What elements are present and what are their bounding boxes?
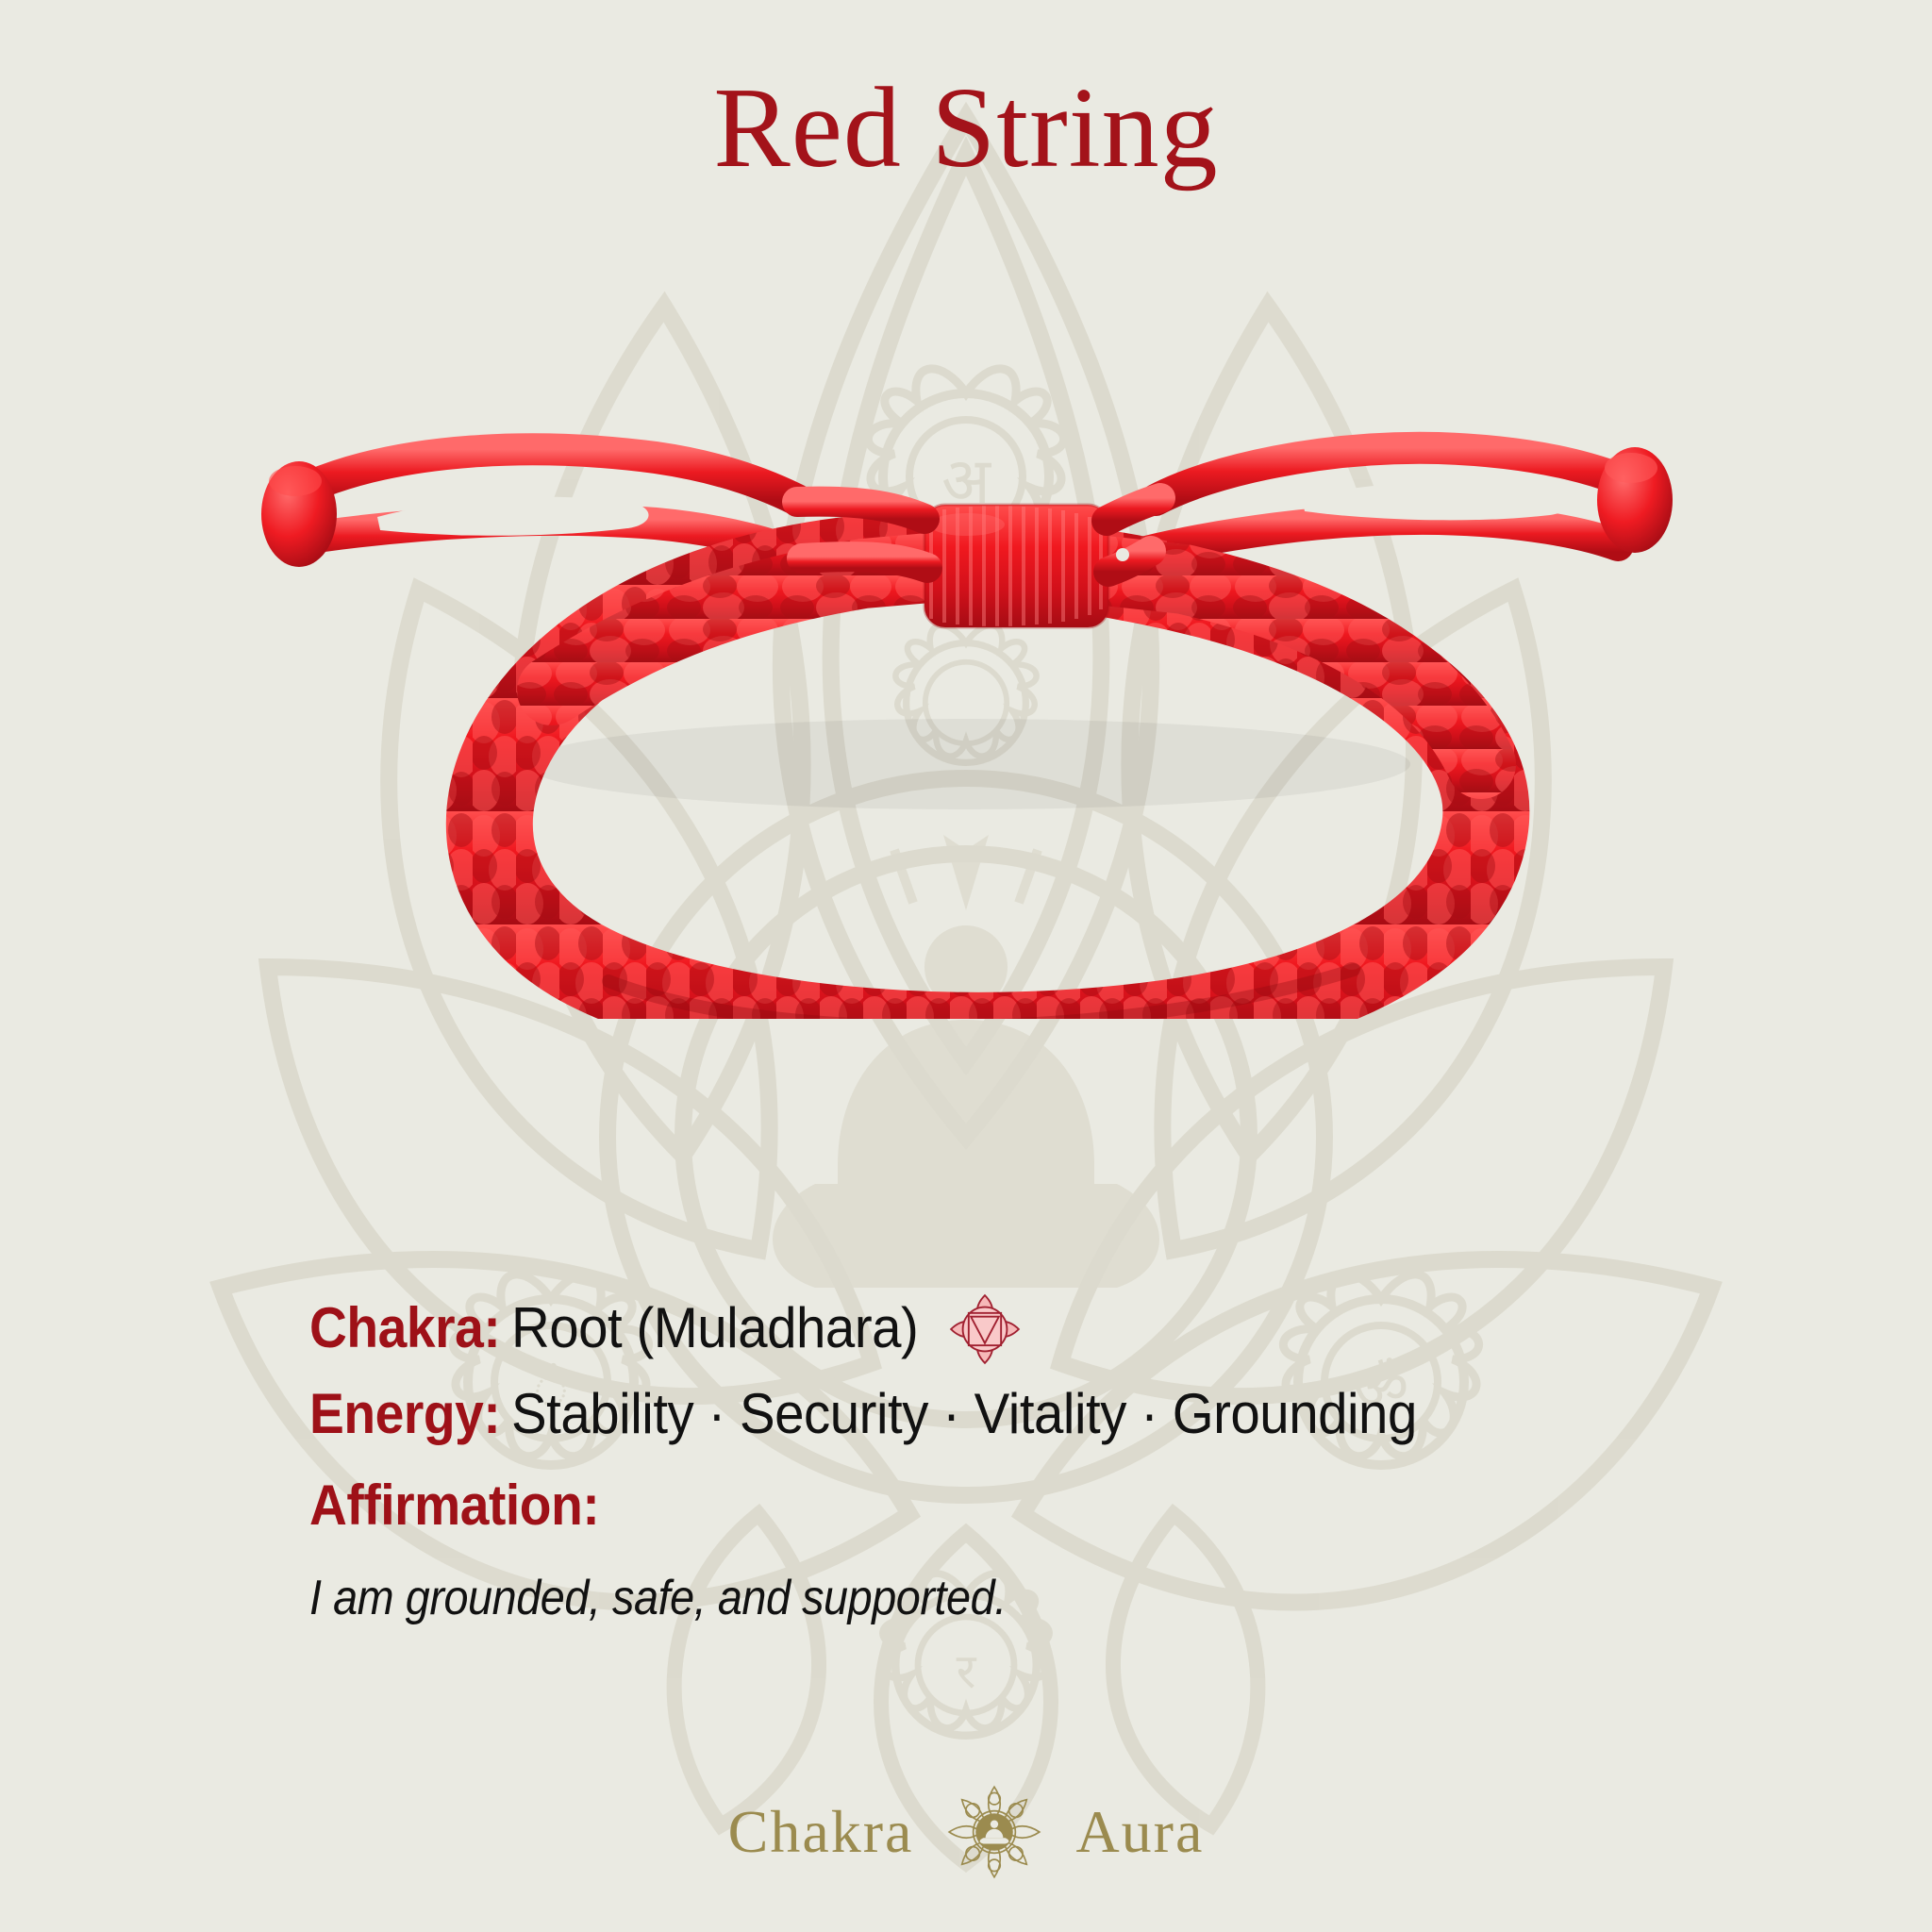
chakra-row: Chakra: Root (Muladhara) bbox=[309, 1291, 1781, 1364]
page-title: Red String bbox=[0, 68, 1932, 189]
brand-name-first: Chakra bbox=[728, 1797, 914, 1867]
energy-row: Energy: Stability · Security · Vitality … bbox=[309, 1381, 1781, 1446]
poster-canvas: अ ं ॐ र Red String bbox=[0, 0, 1932, 1932]
cord-end-bead-left bbox=[261, 461, 337, 567]
sliding-knot bbox=[924, 505, 1108, 627]
brand-name-second: Aura bbox=[1075, 1797, 1204, 1867]
energy-label: Energy: bbox=[309, 1381, 500, 1446]
muladhara-chakra-icon bbox=[948, 1292, 1022, 1366]
cord-end-bead-right bbox=[1597, 447, 1673, 553]
svg-text:र: र bbox=[957, 1646, 977, 1699]
chakra-value: Root (Muladhara) bbox=[511, 1295, 918, 1360]
red-string-braided-bracelet bbox=[212, 358, 1722, 1019]
affirmation-label: Affirmation: bbox=[309, 1473, 1663, 1538]
brand-footer: Chakra bbox=[0, 1783, 1932, 1881]
info-block: Chakra: Root (Muladhara) Energy: Stabili… bbox=[309, 1291, 1781, 1626]
chakra-label: Chakra: bbox=[309, 1295, 500, 1360]
energy-value: Stability · Security · Vitality · Ground… bbox=[511, 1381, 1417, 1446]
affirmation-text: I am grounded, safe, and supported. bbox=[309, 1570, 1634, 1626]
chakra-aura-lotus-logo bbox=[945, 1783, 1043, 1881]
